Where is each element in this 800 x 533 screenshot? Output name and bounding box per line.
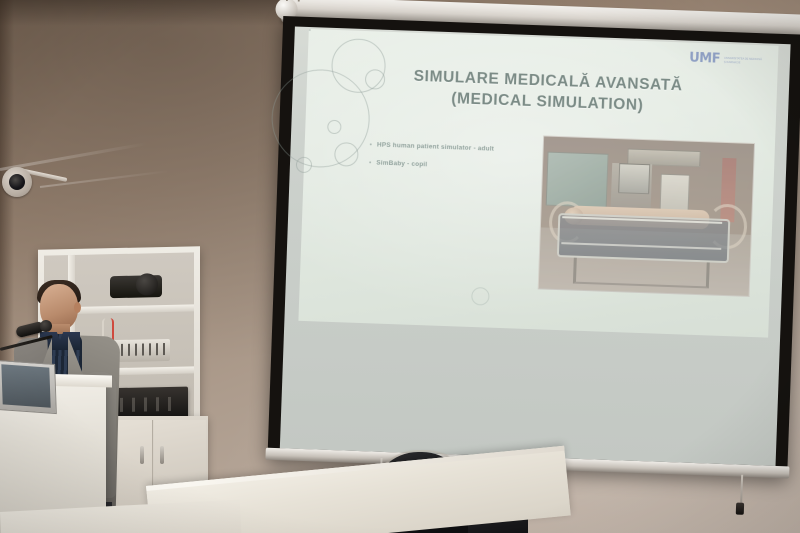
camera-lens bbox=[9, 174, 25, 190]
laptop-screen bbox=[1, 364, 50, 407]
umf-logo-subtext: UNIVERSITATEA DE MEDICINĂ ȘI FARMACIE bbox=[724, 52, 764, 66]
cabinet-handle-left[interactable] bbox=[140, 446, 144, 464]
cabinet-handle-right[interactable] bbox=[160, 446, 164, 464]
screen-black-frame: UMF UNIVERSITATEA DE MEDICINĂ ȘI FARMACI… bbox=[267, 16, 800, 476]
projection-screen: UMF UNIVERSITATEA DE MEDICINĂ ȘI FARMACI… bbox=[265, 0, 800, 484]
photo-window bbox=[546, 152, 609, 208]
dome-camera-icon bbox=[2, 167, 32, 197]
photo-patient-monitor bbox=[618, 163, 650, 193]
presenter-ear bbox=[74, 302, 81, 313]
photo-bed-legs bbox=[572, 257, 709, 288]
ceiling-shadow bbox=[0, 0, 300, 26]
umf-logo: UMF UNIVERSITATEA DE MEDICINĂ ȘI FARMACI… bbox=[689, 51, 764, 69]
umf-logo-mark: UMF bbox=[689, 51, 720, 67]
projected-slide: UMF UNIVERSITATEA DE MEDICINĂ ȘI FARMACI… bbox=[298, 29, 778, 338]
decor-circle-icon bbox=[309, 29, 311, 31]
microphone-capsule bbox=[40, 320, 52, 332]
photo-bed-rail bbox=[561, 216, 722, 250]
screen-pull-knob[interactable] bbox=[736, 503, 744, 515]
slide-bullet-list: HPS human patient simulator - adult SimB… bbox=[360, 137, 561, 180]
slide-photo bbox=[538, 135, 755, 296]
screen-surface: UMF UNIVERSITATEA DE MEDICINĂ ȘI FARMACI… bbox=[280, 26, 791, 465]
photo-scene: UMF UNIVERSITATEA DE MEDICINĂ ȘI FARMACI… bbox=[0, 0, 800, 533]
